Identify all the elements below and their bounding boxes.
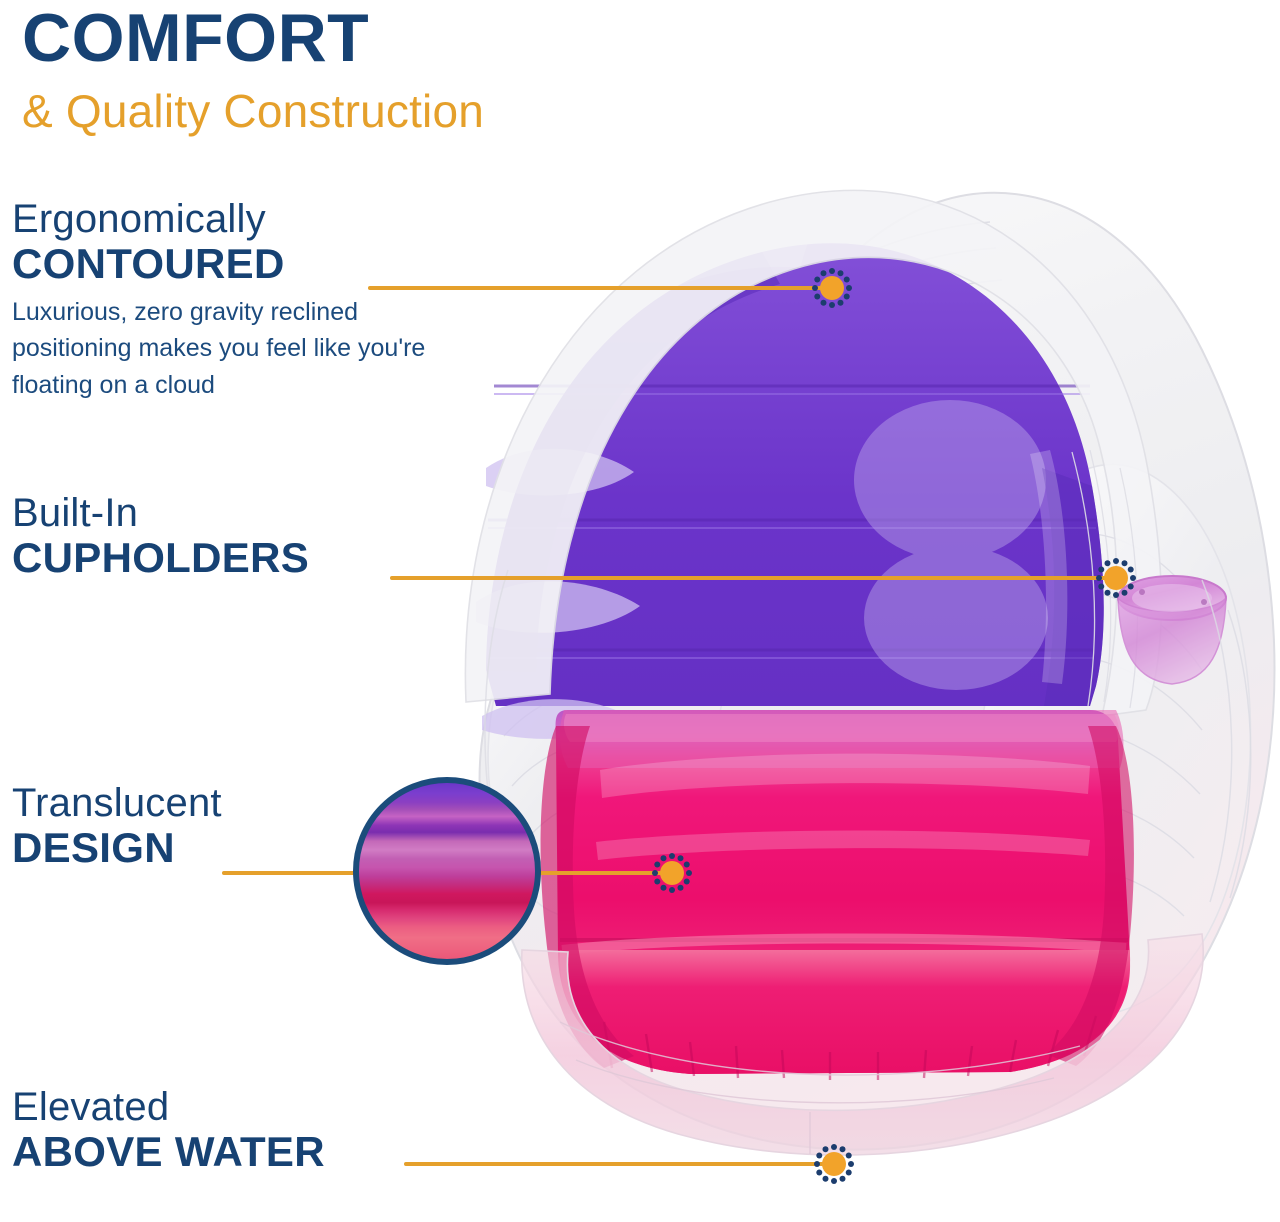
infographic-page: COMFORT & Quality Construction (0, 0, 1280, 1222)
marker-ring-dot (831, 1178, 837, 1184)
marker-ring-dot (829, 302, 835, 308)
marker-core (820, 276, 844, 300)
marker-ring-dot (848, 1161, 854, 1167)
chair-seat (541, 710, 1134, 1080)
magnifier-circle-icon (353, 777, 541, 965)
marker-ring-dot (654, 879, 660, 885)
marker-ring-dot (844, 294, 850, 300)
marker-ring-dot (821, 270, 827, 276)
feature-contoured: Ergonomically CONTOURED Luxurious, zero … (12, 198, 482, 403)
feature-design: Translucent DESIGN (12, 782, 222, 871)
feature-elevated-line2: ABOVE WATER (12, 1129, 325, 1174)
marker-core (660, 861, 684, 885)
marker-ring-dot (829, 268, 835, 274)
page-subtitle: & Quality Construction (22, 72, 484, 134)
marker-ring-dot (684, 879, 690, 885)
marker-ring-dot (661, 855, 667, 861)
marker-ring-dot (1128, 584, 1134, 590)
callout-line-elevated (404, 1162, 832, 1166)
feature-cupholders: Built-In CUPHOLDERS (12, 492, 309, 581)
marker-ring-dot (823, 1146, 829, 1152)
marker-ring-dot (812, 285, 818, 291)
callout-dot-icon-design (649, 850, 695, 896)
marker-ring-dot (823, 1176, 829, 1182)
marker-ring-dot (846, 1170, 852, 1176)
marker-ring-dot (840, 1176, 846, 1182)
marker-ring-dot (821, 300, 827, 306)
marker-ring-dot (1096, 575, 1102, 581)
feature-contoured-line2: CONTOURED (12, 241, 482, 286)
marker-ring-dot (652, 870, 658, 876)
feature-design-line2: DESIGN (12, 825, 222, 870)
feature-cupholders-line2: CUPHOLDERS (12, 535, 309, 580)
marker-core (822, 1152, 846, 1176)
marker-ring-dot (669, 853, 675, 859)
marker-ring-dot (1122, 560, 1128, 566)
marker-ring-dot (816, 1153, 822, 1159)
marker-ring-dot (1113, 558, 1119, 564)
marker-ring-dot (816, 1170, 822, 1176)
marker-ring-dot (814, 277, 820, 283)
marker-ring-dot (684, 862, 690, 868)
marker-ring-dot (1128, 567, 1134, 573)
marker-ring-dot (1105, 560, 1111, 566)
marker-core (1104, 566, 1128, 590)
marker-ring-dot (838, 300, 844, 306)
marker-ring-dot (686, 870, 692, 876)
marker-ring-dot (846, 285, 852, 291)
marker-ring-dot (814, 1161, 820, 1167)
marker-ring-dot (840, 1146, 846, 1152)
marker-ring-dot (838, 270, 844, 276)
callout-line-cupholders (390, 576, 1114, 580)
marker-ring-dot (661, 885, 667, 891)
callout-dot-icon-elevated (811, 1141, 857, 1187)
marker-ring-dot (654, 862, 660, 868)
marker-ring-dot (1122, 590, 1128, 596)
marker-ring-dot (831, 1144, 837, 1150)
callout-dot-icon-cupholders (1093, 555, 1139, 601)
page-title: COMFORT (22, 0, 484, 72)
feature-elevated: Elevated ABOVE WATER (12, 1086, 325, 1175)
marker-ring-dot (814, 294, 820, 300)
marker-ring-dot (844, 277, 850, 283)
marker-ring-dot (846, 1153, 852, 1159)
marker-ring-dot (678, 855, 684, 861)
feature-contoured-line1: Ergonomically (12, 198, 482, 241)
marker-ring-dot (669, 887, 675, 893)
marker-ring-dot (1113, 592, 1119, 598)
feature-cupholders-line1: Built-In (12, 492, 309, 535)
feature-contoured-description: Luxurious, zero gravity reclined positio… (12, 294, 482, 404)
marker-ring-dot (1098, 567, 1104, 573)
header: COMFORT & Quality Construction (22, 0, 484, 134)
marker-ring-dot (1130, 575, 1136, 581)
callout-dot-icon-contoured (809, 265, 855, 311)
marker-ring-dot (1098, 584, 1104, 590)
feature-design-line1: Translucent (12, 782, 222, 825)
marker-ring-dot (678, 885, 684, 891)
feature-elevated-line1: Elevated (12, 1086, 325, 1129)
marker-ring-dot (1105, 590, 1111, 596)
